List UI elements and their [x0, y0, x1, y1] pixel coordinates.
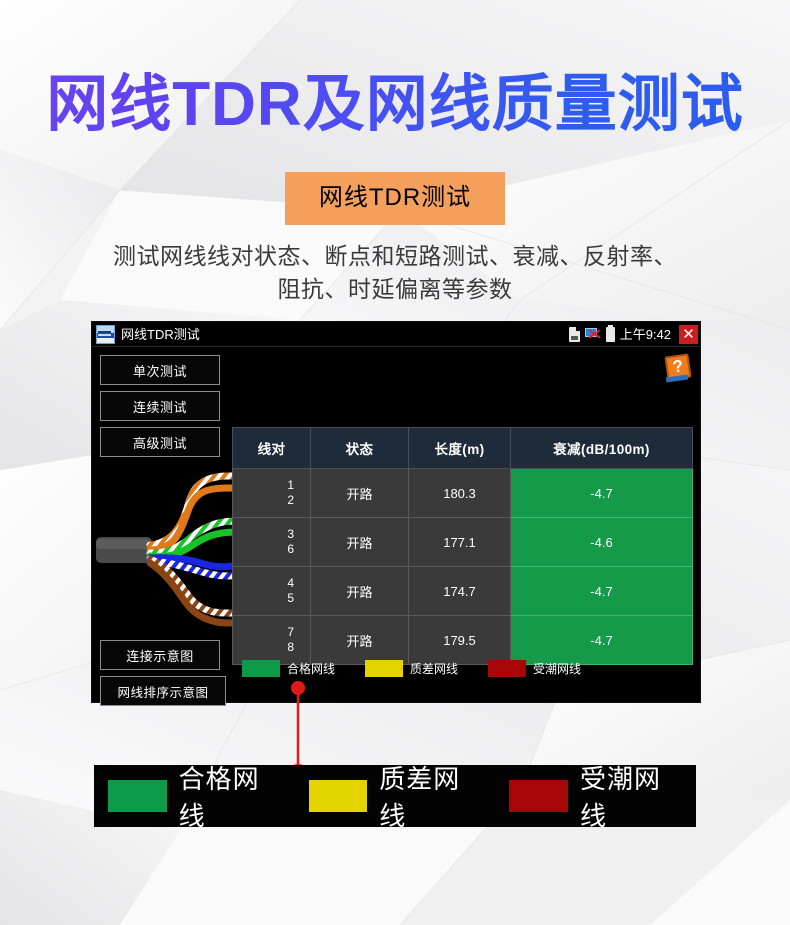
cell-pair: 3 6: [233, 518, 311, 567]
legend-label-poor: 质差网线: [410, 660, 458, 677]
table-row: 4 5 开路 174.7 -4.7: [233, 567, 693, 616]
col-header-attenuation: 衰减(dB/100m): [511, 428, 693, 469]
pair-bottom: 2: [234, 493, 294, 508]
cell-state: 开路: [311, 567, 409, 616]
col-header-state: 状态: [311, 428, 409, 469]
page-subtitle: 测试网线线对状态、断点和短路测试、衰减、反射率、 阻抗、时延偏离等参数: [0, 240, 790, 305]
callout-legend-item-poor: 质差网线: [309, 759, 482, 833]
cell-length: 180.3: [409, 469, 511, 518]
app-icon: [96, 325, 115, 344]
section-badge: 网线TDR测试: [285, 172, 505, 225]
callout-legend-item-good: 合格网线: [108, 759, 281, 833]
col-header-pair: 线对: [233, 428, 311, 469]
table-row: 3 6 开路 177.1 -4.6: [233, 518, 693, 567]
cell-state: 开路: [311, 469, 409, 518]
pair-top: 7: [234, 625, 294, 640]
cell-length: 177.1: [409, 518, 511, 567]
cell-pair: 1 2: [233, 469, 311, 518]
help-icon[interactable]: ?: [664, 353, 692, 381]
legend-item-damp: 受潮网线: [488, 660, 581, 677]
pair-bottom: 8: [234, 640, 294, 655]
legend-item-good: 合格网线: [242, 660, 335, 677]
continuous-test-button[interactable]: 连续测试: [100, 391, 220, 421]
col-header-length: 长度(m): [409, 428, 511, 469]
legend-label-damp: 受潮网线: [533, 660, 581, 677]
pair-top: 4: [234, 576, 294, 591]
connection-diagram-button[interactable]: 连接示意图: [100, 640, 220, 670]
page-title: 网线TDR及网线质量测试: [0, 72, 790, 137]
pair-bottom: 5: [234, 591, 294, 606]
subtitle-line-2: 阻抗、时延偏离等参数: [0, 273, 790, 306]
callout-legend-item-damp: 受潮网线: [509, 759, 682, 833]
device-legend: 合格网线 质差网线 受潮网线: [242, 657, 692, 679]
pair-top: 3: [234, 527, 294, 542]
pair-top: 1: [234, 478, 294, 493]
callout-swatch-damp: [509, 780, 568, 812]
legend-swatch-damp: [488, 660, 526, 677]
device-titlebar: 网线TDR测试 上午9:42 ✕: [92, 322, 700, 347]
subtitle-line-1: 测试网线线对状态、断点和短路测试、衰减、反射率、: [0, 240, 790, 273]
battery-icon: [606, 327, 615, 342]
callout-label-poor: 质差网线: [379, 759, 481, 833]
callout-label-damp: 受潮网线: [580, 759, 682, 833]
tdr-results-table: 线对 状态 长度(m) 衰减(dB/100m) 1 2 开路 180.3: [232, 427, 693, 665]
badge-container: 网线TDR测试: [0, 172, 790, 225]
callout-label-good: 合格网线: [179, 759, 281, 833]
sdcard-icon: [569, 327, 580, 342]
cell-attenuation: -4.7: [511, 469, 693, 518]
table-row: 1 2 开路 180.3 -4.7: [233, 469, 693, 518]
cell-pair: 4 5: [233, 567, 311, 616]
pair-bottom: 6: [234, 542, 294, 557]
callout-swatch-poor: [309, 780, 368, 812]
device-screen-body: 单次测试 连续测试 高级测试 连接示意图 网线排序示意图 ?: [92, 347, 700, 703]
app-title: 网线TDR测试: [121, 328, 200, 341]
callout-swatch-good: [108, 780, 167, 812]
clock-label: 上午9:42: [620, 328, 671, 341]
cell-attenuation: -4.6: [511, 518, 693, 567]
network-disconnected-icon: [585, 327, 601, 341]
legend-swatch-good: [242, 660, 280, 677]
advanced-test-button[interactable]: 高级测试: [100, 427, 220, 457]
cell-attenuation: -4.7: [511, 567, 693, 616]
cell-state: 开路: [311, 518, 409, 567]
legend-item-poor: 质差网线: [365, 660, 458, 677]
single-test-button[interactable]: 单次测试: [100, 355, 220, 385]
status-icons: 上午9:42 ✕: [569, 325, 700, 344]
legend-label-good: 合格网线: [287, 660, 335, 677]
table-header-row: 线对 状态 长度(m) 衰减(dB/100m): [233, 428, 693, 469]
callout-bar: 合格网线 质差网线 受潮网线: [94, 765, 696, 827]
wire-order-diagram-button[interactable]: 网线排序示意图: [100, 676, 226, 706]
help-icon-label: ?: [662, 351, 694, 383]
device-screenshot: 网线TDR测试 上午9:42 ✕ 单次测试 连续测试 高级测试 连接示意图 网线…: [92, 322, 700, 702]
legend-swatch-poor: [365, 660, 403, 677]
close-icon[interactable]: ✕: [679, 325, 698, 344]
cell-length: 174.7: [409, 567, 511, 616]
